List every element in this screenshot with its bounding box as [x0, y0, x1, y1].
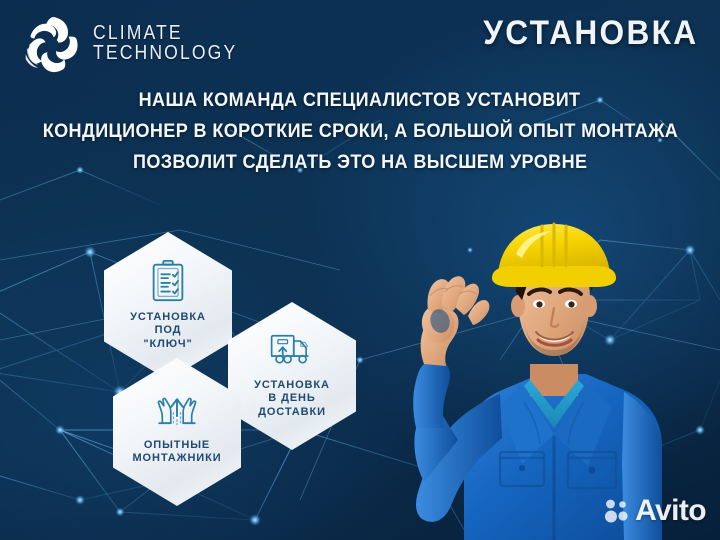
- caption-line: ПОД: [130, 324, 206, 337]
- brand-logo: CLIMATE TECHNOLOGY: [22, 12, 257, 74]
- headline-block: НАША КОМАНДА СПЕЦИАЛИСТОВ УСТАНОВИТ КОНД…: [0, 90, 720, 174]
- avito-dots-icon: [604, 498, 630, 524]
- avito-watermark: Avito: [604, 494, 706, 528]
- delivery-truck-icon: [269, 326, 315, 372]
- caption-line: УСТАНОВКА: [254, 379, 330, 392]
- promo-banner: CLIMATE TECHNOLOGY УСТАНОВКА НАША КОМАНД…: [0, 0, 720, 540]
- clipboard-checklist-icon: [145, 258, 191, 304]
- feature-caption-turnkey: УСТАНОВКА ПОД "КЛЮЧ": [130, 311, 206, 351]
- logo-line-1: CLIMATE: [93, 23, 237, 43]
- fan-spiral-icon: [22, 12, 84, 74]
- caption-line: МОНТАЖНИКИ: [132, 452, 221, 465]
- worker-photo: [372, 214, 720, 540]
- feature-caption-experienced: ОПЫТНЫЕ МОНТАЖНИКИ: [132, 439, 221, 466]
- caption-line: УСТАНОВКА: [130, 311, 206, 324]
- headline-line-3: ПОЗВОЛИТ СДЕЛАТЬ ЭТО НА ВЫСШЕМ УРОВНЕ: [133, 152, 587, 174]
- headline-line-2: КОНДИЦИОНЕР В КОРОТКИЕ СРОКИ, А БОЛЬШОЙ …: [42, 121, 677, 143]
- caption-line: "КЛЮЧ": [130, 338, 206, 351]
- avito-label: Avito: [635, 494, 706, 528]
- headline-line-1: НАША КОМАНДА СПЕЦИАЛИСТОВ УСТАНОВИТ: [139, 90, 581, 112]
- feature-caption-same-day: УСТАНОВКА В ДЕНЬ ДОСТАВКИ: [254, 379, 330, 419]
- page-title: УСТАНОВКА: [483, 14, 698, 53]
- logo-line-2: TECHNOLOGY: [93, 43, 237, 63]
- caption-line: В ДЕНЬ: [254, 392, 330, 405]
- caption-line: ОПЫТНЫЕ: [132, 439, 221, 452]
- hands-holding-airflow-icon: [154, 386, 200, 432]
- caption-line: ДОСТАВКИ: [254, 406, 330, 419]
